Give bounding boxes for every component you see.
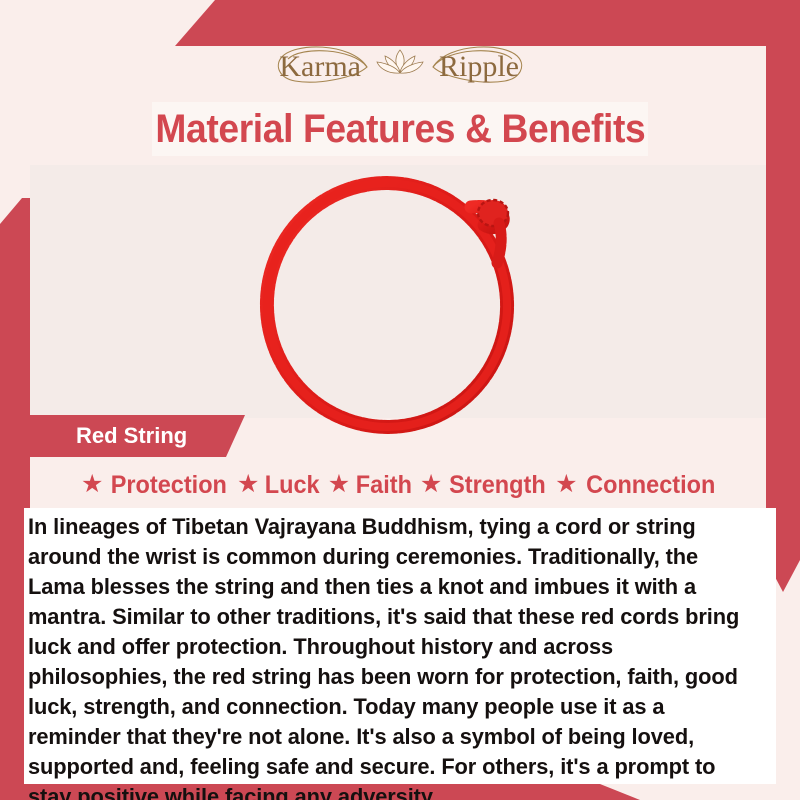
brand-logo: Karma Ripple [0,36,800,98]
benefit-item-strength: ★ Strength [420,471,549,500]
benefit-item-protection: ★ Protection [81,471,231,500]
product-image [0,165,800,455]
benefit-item-luck: ★ Luck [237,471,322,500]
description-card: In lineages of Tibetan Vajrayana Buddhis… [24,508,776,784]
brand-name-right: Ripple [439,50,519,83]
description-text: In lineages of Tibetan Vajrayana Buddhis… [28,512,744,800]
benefit-item-connection: ★ Connection [555,471,719,500]
star-icon: ★ [328,472,350,497]
benefit-label: Connection [586,471,715,500]
star-icon: ★ [81,472,103,497]
star-icon: ★ [237,472,259,497]
benefits-list: ★ Protection ★ Luck ★ Faith ★ Strength ★… [30,466,770,504]
page-title-band: Material Features & Benefits [152,102,648,156]
product-name-label: Red String [76,423,187,449]
page-title: Material Features & Benefits [155,107,645,152]
karma-ripple-logo-icon: Karma Ripple [255,36,545,98]
star-icon: ★ [420,472,442,497]
benefit-label: Faith [356,471,412,500]
product-name-banner: Red String [30,415,250,457]
infographic-page: Karma Ripple Material Features & Benefit… [0,0,800,800]
benefit-label: Strength [449,471,546,500]
header: Karma Ripple Material Features & Benefit… [0,0,800,165]
benefit-item-faith: ★ Faith [328,471,414,500]
benefit-label: Luck [265,471,320,500]
benefit-label: Protection [111,471,227,500]
star-icon: ★ [555,472,577,497]
red-string-bracelet-icon [235,165,565,450]
brand-name-left: Karma [279,50,361,83]
